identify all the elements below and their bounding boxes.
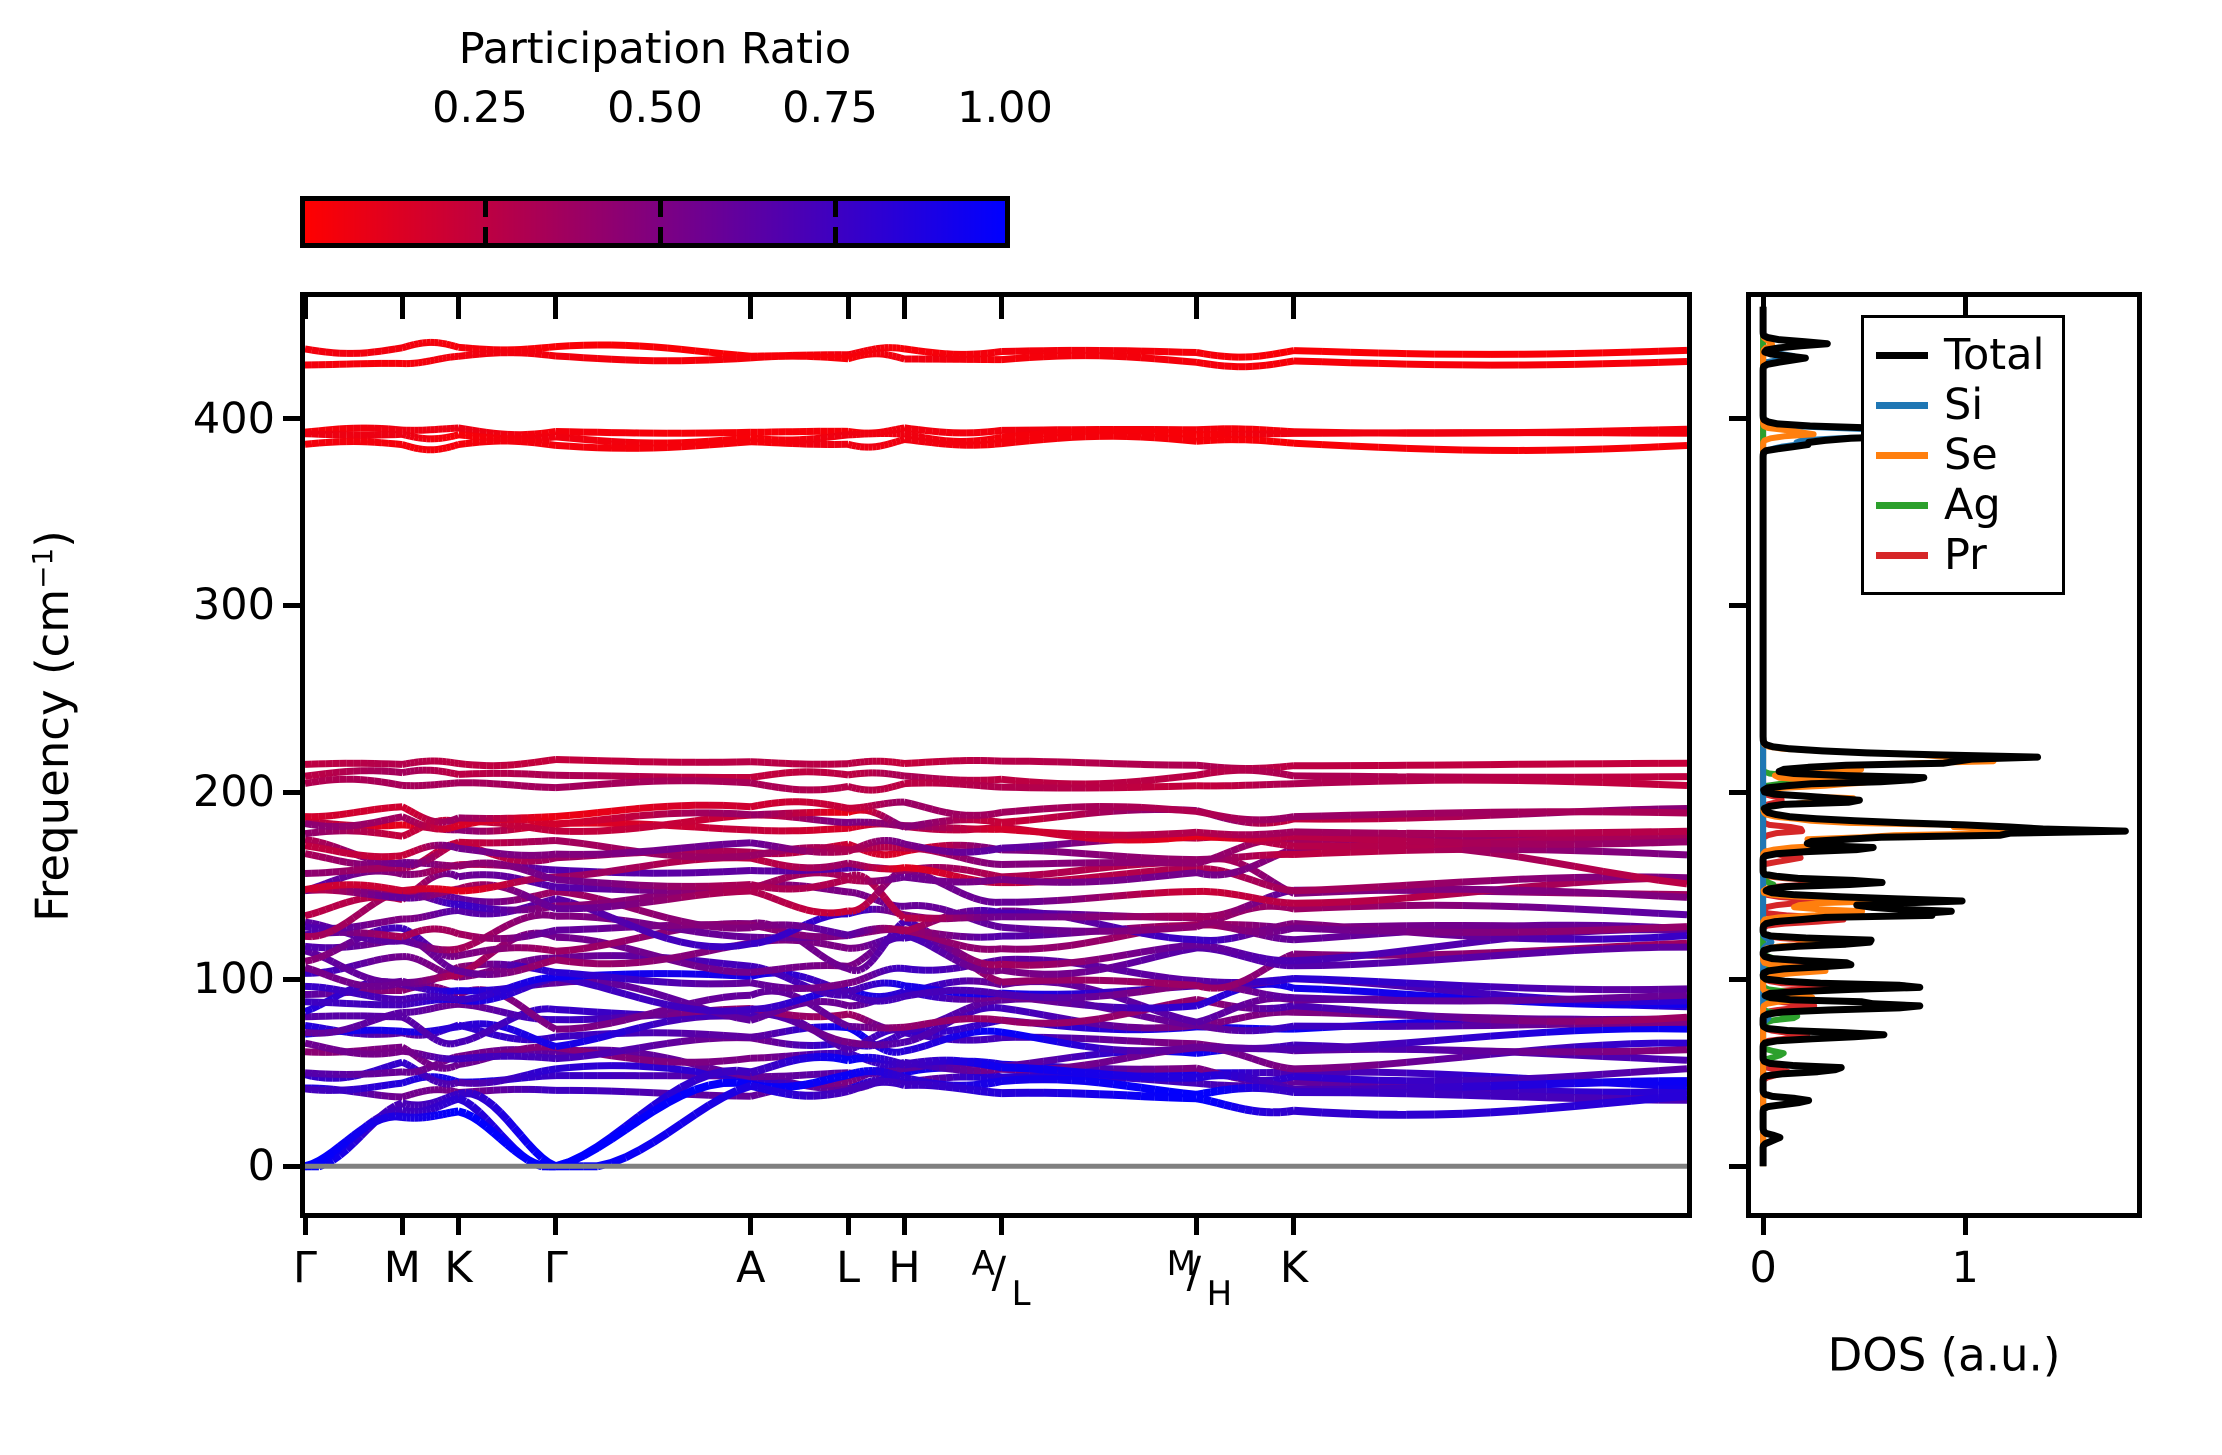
dos-x-tick-top (1761, 297, 1766, 319)
legend-entry-se: Se (1876, 430, 2044, 480)
colorbar (300, 196, 1010, 248)
band-x-tick-label: K (1280, 1243, 1308, 1293)
band-x-tick (846, 1213, 851, 1235)
band-x-tick-top (456, 297, 461, 319)
band-x-tick-label: Γ (544, 1243, 568, 1293)
dos-y-tick (1729, 790, 1751, 795)
y-axis-title-close: ) (26, 530, 79, 548)
band-y-tick-label: 400 (193, 394, 275, 444)
band-x-tick (902, 1213, 907, 1235)
band-x-tick-top (303, 297, 308, 319)
colorbar-tick-labels: 0.250.500.751.00 (300, 83, 1010, 131)
band-x-tick-top (553, 297, 558, 319)
band-y-tick-label: 200 (193, 767, 275, 817)
legend-entry-si: Si (1876, 380, 2044, 430)
band-y-tick (283, 977, 305, 982)
colorbar-tick-label: 0.75 (782, 83, 878, 133)
band-x-tick-label: L (836, 1243, 860, 1293)
colorbar-tick-label: 0.25 (432, 83, 528, 133)
band-x-tick-top (999, 297, 1004, 319)
figure-root: Participation Ratio 0.250.500.751.00 010… (0, 0, 2222, 1455)
dos-x-tick (1963, 1213, 1968, 1235)
colorbar-tick-mark (483, 227, 488, 243)
colorbar-tick-mark (833, 227, 838, 243)
band-x-tick-top (846, 297, 851, 319)
legend-label: Pr (1944, 534, 1987, 577)
dos-x-tick (1761, 1213, 1766, 1235)
band-y-tick-label: 300 (193, 580, 275, 630)
dos-y-tick (1729, 603, 1751, 608)
band-x-tick (456, 1213, 461, 1235)
colorbar-tick-label: 0.50 (607, 83, 703, 133)
colorbar-tick-mark (483, 201, 488, 217)
y-axis-title-text: Frequency (cm (26, 589, 79, 922)
band-x-tick-label: A (736, 1243, 765, 1293)
dos-y-tick (1729, 416, 1751, 421)
band-x-tick-top (902, 297, 907, 319)
dos-axes: 01 TotalSiSeAgPr (1746, 292, 2142, 1218)
band-structure-axes: 0100200300400 ΓMKΓALHA/LM/HK (300, 292, 1692, 1218)
band-x-tick-top (1194, 297, 1199, 319)
dos-legend: TotalSiSeAgPr (1861, 315, 2065, 595)
band-y-tick (283, 790, 305, 795)
band-x-tick-top (748, 297, 753, 319)
colorbar-tick-mark (833, 201, 838, 217)
legend-label: Se (1944, 434, 1998, 477)
band-x-tick (748, 1213, 753, 1235)
legend-entry-ag: Ag (1876, 480, 2044, 530)
band-y-tick (283, 1164, 305, 1169)
dos-y-tick (1729, 977, 1751, 982)
band-x-tick (999, 1213, 1004, 1235)
band-y-tick-label: 0 (248, 1141, 275, 1191)
legend-label: Total (1944, 334, 2044, 377)
legend-label: Si (1944, 384, 1983, 427)
band-y-tick (283, 603, 305, 608)
band-y-axis-title: Frequency (cm−1) (29, 530, 75, 922)
legend-swatch-pr (1876, 552, 1928, 559)
band-y-tick-label: 100 (193, 954, 275, 1004)
y-axis-title-exponent: −1 (26, 548, 59, 589)
band-structure-curves (305, 297, 1687, 1213)
band-y-tick (283, 416, 305, 421)
legend-entry-pr: Pr (1876, 530, 2044, 580)
band-x-tick (1194, 1213, 1199, 1235)
band-x-tick-label: M (384, 1243, 421, 1293)
colorbar-tick-mark (658, 227, 663, 243)
band-x-tick (1291, 1213, 1296, 1235)
colorbar-title: Participation Ratio (300, 28, 1010, 71)
band-plot-area (305, 297, 1687, 1213)
legend-swatch-ag (1876, 502, 1928, 509)
band-x-tick-label: H (888, 1243, 920, 1293)
band-x-tick-label: Γ (293, 1243, 317, 1293)
legend-swatch-si (1876, 402, 1928, 409)
legend-swatch-total (1876, 352, 1928, 359)
band-x-tick (400, 1213, 405, 1235)
band-x-tick-label: K (444, 1243, 472, 1293)
dos-x-tick-label: 0 (1749, 1243, 1776, 1293)
band-x-tick (303, 1213, 308, 1235)
dos-x-tick-label: 1 (1952, 1243, 1979, 1293)
legend-swatch-se (1876, 452, 1928, 459)
dos-y-tick (1729, 1164, 1751, 1169)
band-x-tick-top (1291, 297, 1296, 319)
legend-label: Ag (1944, 484, 2001, 527)
band-x-tick (553, 1213, 558, 1235)
band-x-tick-top (400, 297, 405, 319)
dos-x-axis-title: DOS (a.u.) (1828, 1333, 2061, 1378)
legend-entry-total: Total (1876, 330, 2044, 380)
colorbar-tick-mark (658, 201, 663, 217)
colorbar-gradient (305, 201, 1005, 243)
colorbar-tick-label: 1.00 (957, 83, 1053, 133)
